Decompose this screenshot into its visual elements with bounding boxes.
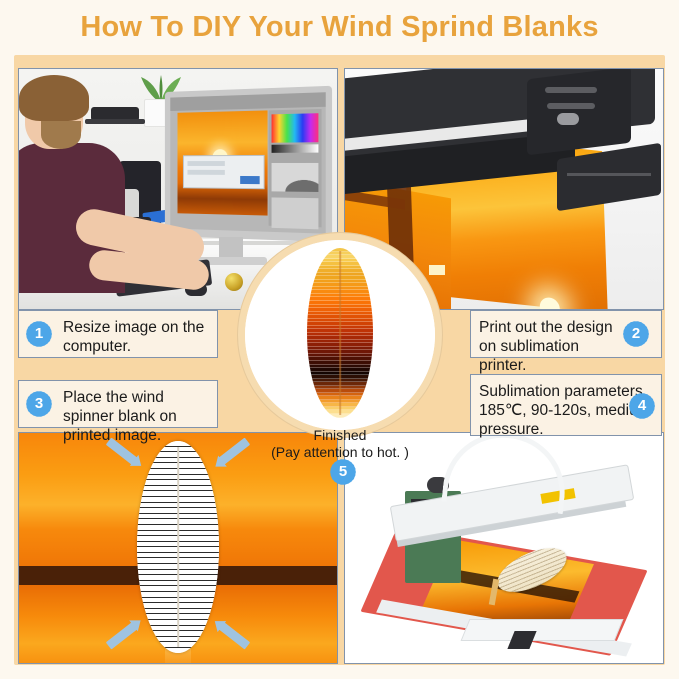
step-3-photo	[18, 432, 338, 664]
step-4-photo	[344, 432, 664, 664]
resize-dialog	[183, 155, 265, 189]
step-1-text: Resize image on the computer.	[63, 318, 209, 356]
tool-panels	[269, 109, 322, 227]
step-3-text: Place the wind spinner blank on printed …	[63, 388, 209, 445]
paper-highlight	[429, 265, 445, 275]
layers-panel	[272, 197, 319, 229]
decorative-ball	[225, 273, 243, 291]
finished-center-rib	[339, 251, 341, 414]
monitor-screen	[170, 92, 325, 233]
step-3-badge: 3	[24, 389, 54, 419]
person-beard	[41, 121, 81, 149]
slat	[137, 648, 219, 653]
finished-result-inner	[245, 240, 435, 430]
finished-label-line2: (Pay attention to hot. )	[238, 444, 442, 461]
color-picker-swatch	[272, 113, 319, 143]
wind-spinner-blank	[137, 441, 219, 653]
dialog-ok-button	[240, 176, 260, 184]
cartridge-slot	[545, 87, 597, 93]
finished-wind-spinner	[307, 248, 373, 418]
desk-phone-base	[85, 119, 145, 124]
paper-tray-groove	[567, 173, 651, 176]
press-base-rail	[461, 619, 624, 641]
histogram-curve	[272, 171, 319, 192]
step-2-text: Print out the design on sublimation prin…	[479, 318, 613, 375]
step-1-badge: 1	[24, 319, 54, 349]
finished-result-circle	[238, 233, 442, 437]
step-5-badge: 5	[328, 457, 358, 487]
dialog-field-row	[188, 161, 225, 166]
gradient-strip	[272, 144, 319, 153]
blank-center-rib	[177, 447, 179, 646]
printed-sun	[539, 297, 560, 310]
app-toolbar	[170, 92, 325, 111]
computer-monitor	[165, 86, 332, 243]
page-title-bar: How To DIY Your Wind Sprind Blanks	[0, 0, 679, 55]
cartridge-slot	[547, 103, 595, 109]
page-title: How To DIY Your Wind Sprind Blanks	[80, 11, 598, 44]
step-2-badge: 2	[621, 319, 651, 349]
dialog-field-row	[188, 170, 225, 175]
step-5-number: 5	[339, 457, 347, 487]
printer-cartridge-bay	[527, 68, 631, 155]
step-1-number: 1	[35, 319, 43, 349]
infographic-page: How To DIY Your Wind Sprind Blanks	[0, 0, 679, 679]
step-3-number: 3	[35, 389, 43, 419]
person-hair	[19, 75, 89, 121]
printer-knob	[557, 113, 579, 125]
step-2-number: 2	[632, 319, 640, 349]
step-4-number: 4	[638, 391, 646, 421]
step-4-badge: 4	[627, 391, 657, 421]
monitor-stand	[219, 237, 243, 259]
finished-label-line1: Finished	[238, 427, 442, 444]
finished-label: Finished (Pay attention to hot. )	[238, 427, 442, 461]
